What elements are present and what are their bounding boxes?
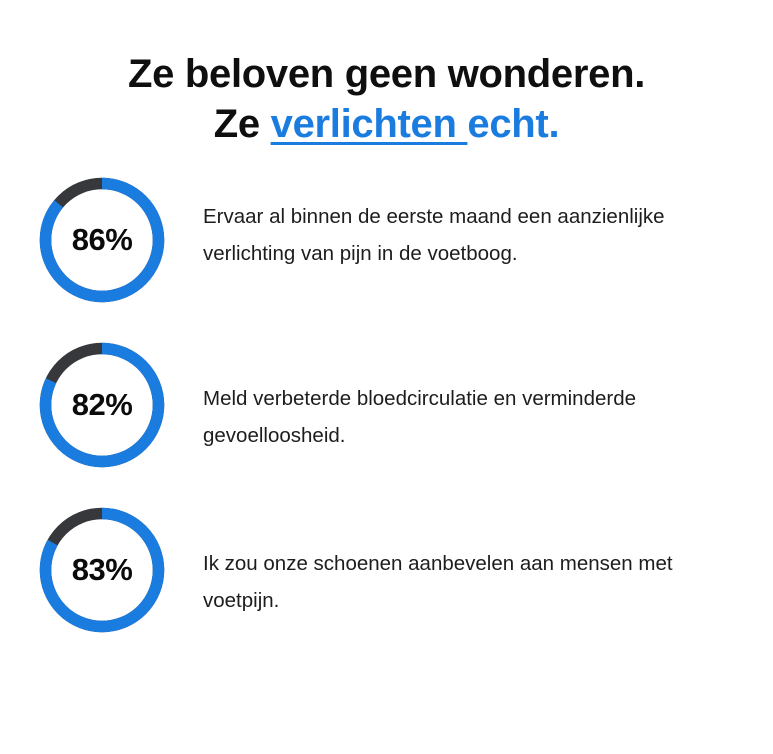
- list-item: 86% Ervaar al binnen de eerste maand een…: [0, 170, 773, 310]
- headline-line-1: Ze beloven geen wonderen.: [0, 49, 773, 99]
- headline-lead-word: Ze: [214, 102, 271, 146]
- stat-description: Ervaar al binnen de eerste maand een aan…: [203, 198, 693, 272]
- headline-highlight-plain: echt.: [467, 102, 559, 146]
- infographic-page: Ze beloven geen wonderen. Ze verlichten …: [0, 0, 773, 754]
- stat-description: Ik zou onze schoenen aanbevelen aan mens…: [203, 545, 693, 619]
- list-item: 82% Meld verbeterde bloedcirculatie en v…: [0, 335, 773, 475]
- list-item: 83% Ik zou onze schoenen aanbevelen aan …: [0, 500, 773, 640]
- stat-description: Meld verbeterde bloedcirculatie en vermi…: [203, 380, 693, 454]
- page-title: Ze beloven geen wonderen. Ze verlichten …: [0, 49, 773, 149]
- donut-chart-86: 86%: [39, 177, 165, 303]
- donut-chart-82: 82%: [39, 342, 165, 468]
- donut-chart-83: 83%: [39, 507, 165, 633]
- headline-line-2: Ze verlichten echt.: [0, 99, 773, 149]
- headline-highlight-link[interactable]: verlichten: [271, 102, 468, 146]
